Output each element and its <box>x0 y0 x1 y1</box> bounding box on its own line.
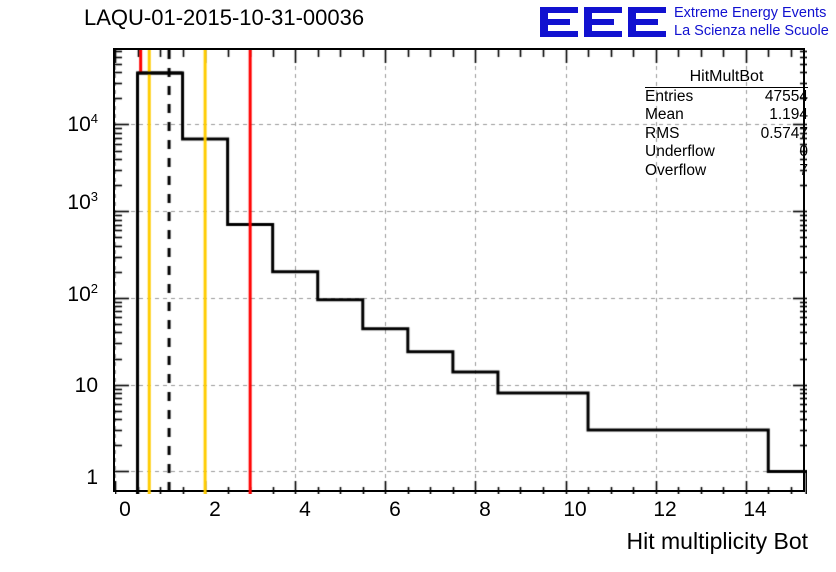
statbox-value-underflow: 0 <box>799 143 808 161</box>
eee-logo-line1: Extreme Energy Events <box>674 4 829 22</box>
statbox-value-mean: 1.194 <box>769 106 808 124</box>
statbox-label-rms: RMS <box>645 125 679 143</box>
x-tick-label-6: 6 <box>375 498 415 522</box>
statbox-title: HitMultBot <box>645 68 808 88</box>
eee-logo-text: Extreme Energy Events La Scienza nelle S… <box>674 4 829 40</box>
eee-logo-letters-icon <box>538 5 668 39</box>
statbox-label-overflow: Overflow <box>645 162 706 180</box>
statbox-label-mean: Mean <box>645 106 684 124</box>
x-tick-label-8: 8 <box>465 498 505 522</box>
y-tick-label-100: 102 <box>36 281 98 307</box>
statbox-value-entries: 47554 <box>765 88 808 106</box>
statbox-row-overflow: Overflow 7 <box>645 162 808 180</box>
page-title: LAQU-01-2015-10-31-00036 <box>84 5 364 31</box>
eee-logo-line2: La Scienza nelle Scuole <box>674 22 829 40</box>
statbox-value-rms: 0.5747 <box>761 125 808 143</box>
x-tick-label-10: 10 <box>555 498 595 522</box>
y-tick-label-10000: 104 <box>36 111 98 137</box>
x-tick-label-12: 12 <box>645 498 685 522</box>
statbox-row-mean: Mean 1.194 <box>645 106 808 124</box>
statbox-row-rms: RMS 0.5747 <box>645 125 808 143</box>
x-tick-label-14: 14 <box>735 498 775 522</box>
y-tick-label-1: 1 <box>36 466 98 490</box>
statbox-label-underflow: Underflow <box>645 143 715 161</box>
root-canvas: LAQU-01-2015-10-31-00036 <box>0 0 836 572</box>
statbox-row-entries: Entries 47554 <box>645 88 808 106</box>
y-tick-label-1000: 103 <box>36 189 98 215</box>
eee-logo: Extreme Energy Events La Scienza nelle S… <box>538 2 836 44</box>
x-axis-title: Hit multiplicity Bot <box>627 528 808 555</box>
statbox-row-underflow: Underflow 0 <box>645 143 808 161</box>
x-tick-label-0: 0 <box>105 498 145 522</box>
statbox-value-overflow: 7 <box>799 162 808 180</box>
statbox-label-entries: Entries <box>645 88 693 106</box>
y-tick-label-10: 10 <box>36 374 98 398</box>
x-tick-label-2: 2 <box>195 498 235 522</box>
x-tick-label-4: 4 <box>285 498 325 522</box>
statistics-box: HitMultBot Entries 47554 Mean 1.194 RMS … <box>645 68 808 180</box>
